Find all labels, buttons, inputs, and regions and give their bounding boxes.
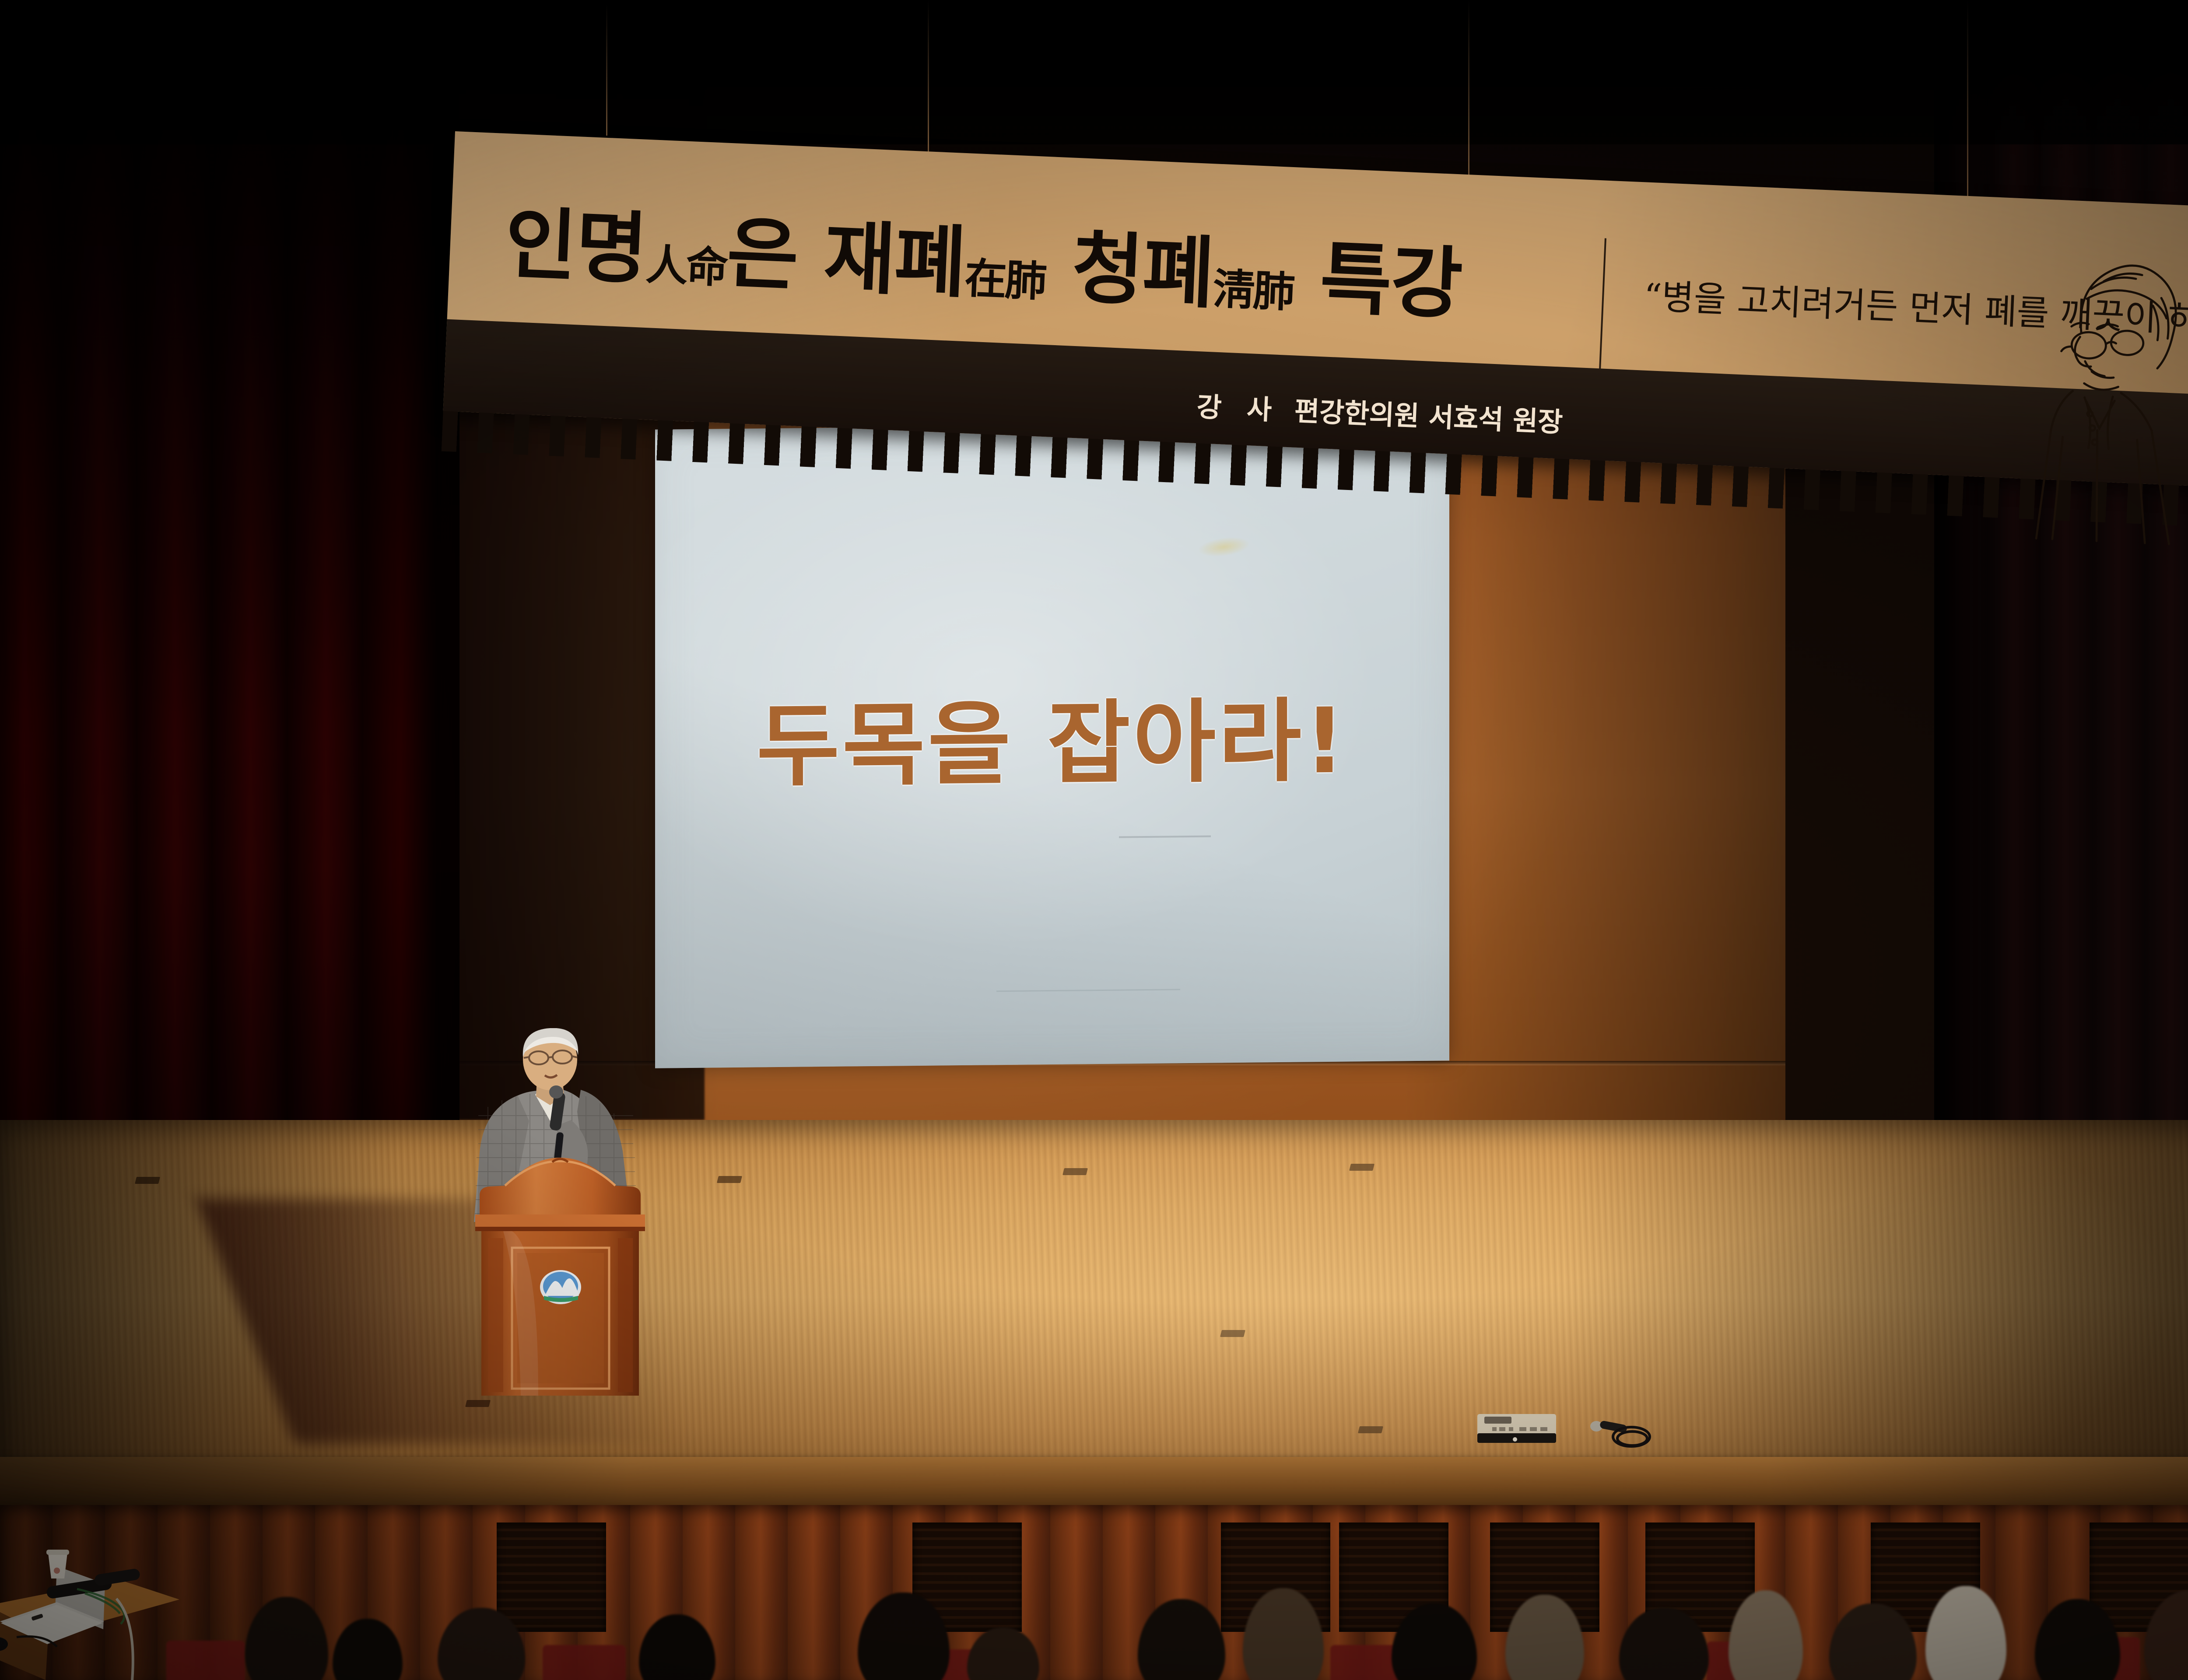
audience-head xyxy=(1392,1603,1477,1680)
stage-edge-lip xyxy=(0,1457,2188,1509)
stage-teaser-top xyxy=(0,0,2188,144)
seat-back xyxy=(543,1645,626,1680)
audience-head xyxy=(438,1608,525,1680)
audience-head xyxy=(245,1597,328,1680)
banner-headline-seg: 청폐 xyxy=(1044,221,1215,319)
audience-head xyxy=(1138,1599,1225,1680)
stage-microphone-icon xyxy=(1584,1417,1659,1452)
portrait-line-art-icon xyxy=(2012,238,2188,548)
banner-headline-hanja: 人命 xyxy=(645,240,728,293)
banner-credit-label: 강 사 xyxy=(1196,391,1280,426)
audience-head xyxy=(858,1592,950,1680)
lectern xyxy=(451,1133,670,1396)
floor-hatch xyxy=(717,1176,742,1183)
banner-headline-seg: 특강 xyxy=(1292,232,1463,329)
stage-photo-scene: 두목을 잡아라! 인명人命은 재폐在肺 청폐淸肺 특강 “병을 고치려거든 먼저… xyxy=(0,0,2188,1680)
audience-head xyxy=(1829,1603,1917,1680)
audience-head xyxy=(2035,1599,2120,1680)
floor-hatch xyxy=(1358,1426,1383,1433)
banner-headline-seg: 은 xyxy=(725,208,826,302)
screen-seam-lower xyxy=(996,989,1180,992)
audience-rows xyxy=(0,1566,2188,1680)
audience-head xyxy=(639,1614,715,1680)
audience-head xyxy=(1505,1595,1584,1680)
floor-hatch xyxy=(1062,1168,1088,1175)
banner-headline-seg: 인명 xyxy=(503,198,649,295)
audience-head xyxy=(2144,1590,2188,1680)
audience-head xyxy=(333,1619,403,1680)
audience-head xyxy=(1243,1588,1324,1680)
audience-head xyxy=(967,1627,1039,1680)
audience-head xyxy=(1619,1608,1709,1680)
slide-headline: 두목을 잡아라! xyxy=(655,667,1449,805)
projector-icon xyxy=(1475,1408,1562,1447)
projection-screen: 두목을 잡아라! xyxy=(655,422,1449,1068)
banner-headline-hanja: 在肺 xyxy=(964,254,1046,306)
banner-hanging-wire xyxy=(928,0,929,152)
seat-back xyxy=(166,1641,245,1680)
podium-emblem-icon xyxy=(540,1270,581,1304)
banner-headline-seg: 재폐 xyxy=(822,212,967,308)
audience-head xyxy=(1729,1590,1803,1680)
banner-hanging-wire xyxy=(1468,0,1469,188)
audience-head xyxy=(1925,1586,2006,1680)
floor-hatch xyxy=(1220,1330,1245,1337)
screen-smudge xyxy=(1197,535,1251,560)
banner-hanging-wire xyxy=(606,4,607,136)
banner-headline-hanja: 淸肺 xyxy=(1212,264,1294,317)
floor-hatch xyxy=(1349,1164,1375,1171)
screen-seam-upper xyxy=(1119,836,1211,838)
floor-hatch xyxy=(135,1177,160,1184)
